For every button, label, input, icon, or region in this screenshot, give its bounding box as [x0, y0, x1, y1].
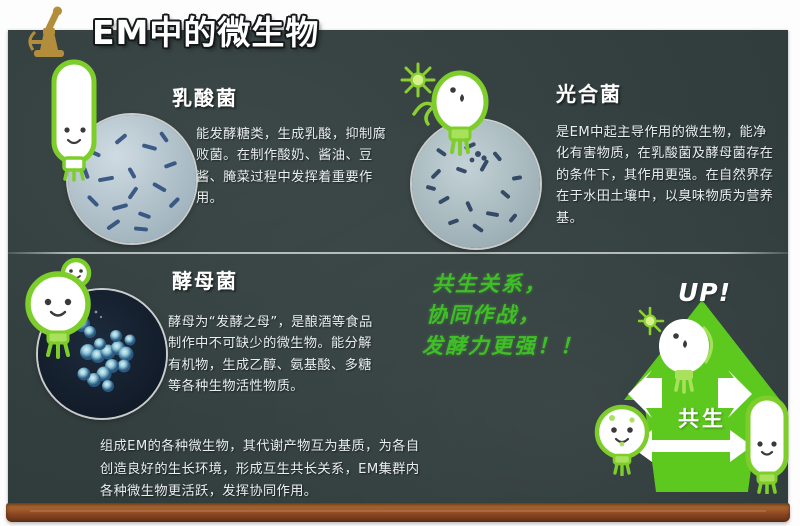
symbiosis-mascot-right — [736, 394, 798, 494]
microscope-icon — [14, 2, 76, 64]
chalkboard-ledge — [6, 503, 790, 522]
symbiosis-label: 共生 — [660, 403, 744, 433]
flagellate-bacterium-mascot — [398, 58, 508, 168]
photosynthetic-heading: 光合菌 — [556, 78, 622, 107]
poster-root: EM中的微生物 — [0, 0, 800, 526]
rod-bacterium-mascot — [40, 58, 112, 182]
yeast-cell-mascot — [18, 258, 114, 362]
yeast-heading: 酵母菌 — [172, 265, 238, 294]
lactic-heading: 乳酸菌 — [172, 82, 238, 111]
symbiosis-mascot-left — [592, 400, 658, 476]
section-divider — [8, 252, 788, 254]
page-title: EM中的微生物 — [92, 6, 319, 54]
synergy-diagram: UP! 共生 — [600, 282, 796, 492]
summary-paragraph: 组成EM的各种微生物，其代谢产物互为基质，为各自 创造良好的生长环境，形成互生共… — [100, 436, 472, 504]
summary-line-1: 组成EM的各种微生物，其代谢产物互为基质，为各自 — [100, 436, 472, 459]
photosynthetic-body: 是EM中起主导作用的微生物，能净化有害物质，在乳酸菌及酵母菌存在的条件下，其作用… — [556, 122, 780, 229]
arrow-rider-mascot — [638, 304, 730, 396]
summary-line-2: 创造良好的生长环境，形成互生共长关系，EM集群内 — [100, 459, 472, 482]
yeast-body: 酵母为“发酵之母”，是酿酒等食品制作中不可缺少的微生物。能分解有机物，生成乙醇、… — [168, 312, 380, 398]
summary-line-3: 各种微生物更活跃，发挥协同作用。 — [100, 481, 472, 504]
lactic-body: 能发酵糖类，生成乳酸，抑制腐败菌。在制作酸奶、酱油、豆酱、腌菜过程中发挥着重要作… — [196, 124, 392, 210]
up-label: UP! — [678, 278, 731, 307]
